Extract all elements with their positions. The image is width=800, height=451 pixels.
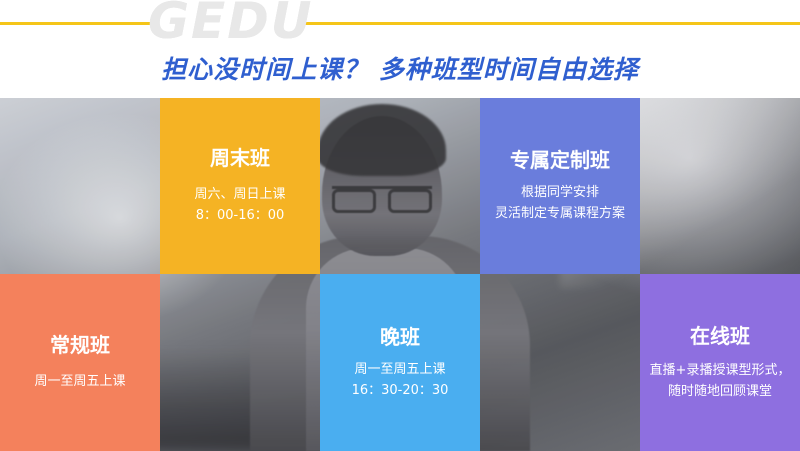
tile-line: 周六、周日上课	[194, 184, 285, 205]
tile-line: 16：30-20：30	[352, 380, 449, 401]
banner-header: GEDU 担心没时间上课？ 多种班型时间自由选择	[0, 0, 800, 98]
tile-line: 周一至周五上课	[34, 371, 125, 392]
tile-title: 专属定制班	[510, 148, 610, 172]
promo-banner: GEDU 担心没时间上课？ 多种班型时间自由选择 周末班 周六、周日上课 8：0…	[0, 0, 800, 451]
course-tile-weekend[interactable]: 周末班 周六、周日上课 8：00-16：00	[160, 98, 320, 274]
tile-title: 晚班	[380, 325, 420, 349]
banner-headline: 担心没时间上课？ 多种班型时间自由选择	[0, 50, 800, 86]
tile-line: 直播+录播授课型形式，	[650, 360, 791, 381]
tile-title: 周末班	[210, 146, 270, 170]
course-tile-regular[interactable]: 常规班 周一至周五上课	[0, 274, 160, 451]
tile-line: 周一至周五上课	[354, 359, 445, 380]
course-tile-online[interactable]: 在线班 直播+录播授课型形式， 随时随地回顾课堂	[640, 274, 800, 451]
course-tile-evening[interactable]: 晚班 周一至周五上课 16：30-20：30	[320, 274, 480, 451]
tile-line: 灵活制定专属课程方案	[495, 203, 625, 224]
tile-line: 8：00-16：00	[196, 205, 285, 226]
tile-line: 随时随地回顾课堂	[668, 381, 772, 402]
accent-rule-left	[0, 22, 150, 25]
tile-title: 常规班	[50, 333, 110, 357]
gedu-wordmark: GEDU	[148, 0, 313, 48]
course-tile-custom[interactable]: 专属定制班 根据同学安排 灵活制定专属课程方案	[480, 98, 640, 274]
tile-line: 根据同学安排	[521, 182, 599, 203]
tile-title: 在线班	[690, 324, 750, 348]
accent-rule-right	[302, 22, 800, 25]
